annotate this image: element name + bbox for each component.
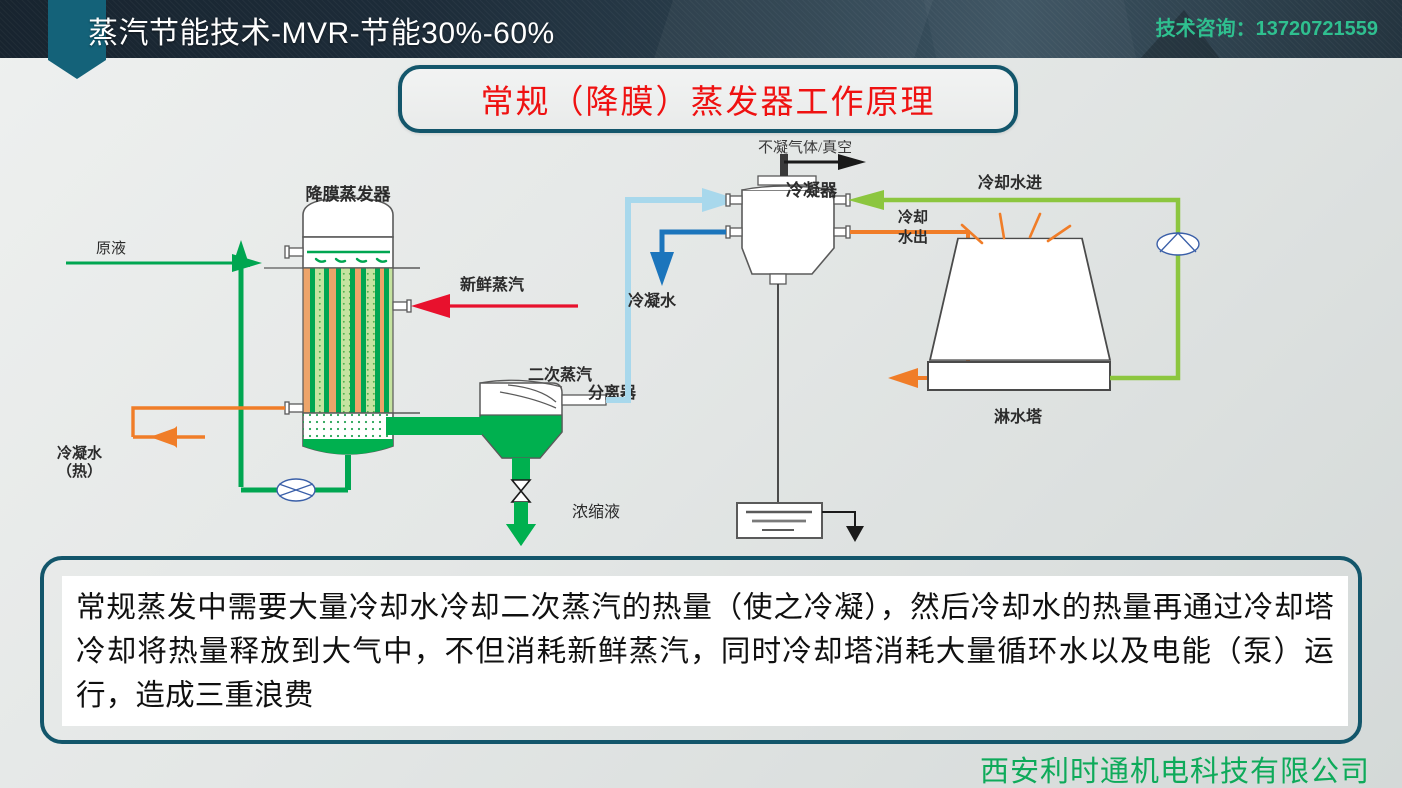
condenser-label: 冷凝器 <box>786 180 838 200</box>
concentrate-label: 浓缩液 <box>572 503 620 521</box>
noncondensable-gas-flow <box>784 154 866 170</box>
fresh-steam-flow <box>411 294 578 318</box>
recirculation-pump-icon <box>277 479 315 501</box>
header-title: 蒸汽节能技术-MVR-节能30%-60% <box>88 8 555 52</box>
cooling-water-in-label: 冷却水进 <box>978 173 1042 192</box>
evaporator-liquid-level <box>303 439 393 455</box>
concentrate-transfer-pipe <box>386 417 482 435</box>
separator-bottom-outlet <box>506 458 536 546</box>
evaporator-label: 降膜蒸发器 <box>306 184 392 204</box>
condenser-vessel <box>726 154 850 503</box>
description-card: 常规蒸发中需要大量冷却水冷却二次蒸汽的热量（使之冷凝），然后冷却水的热量再通过冷… <box>40 556 1362 744</box>
cooling-tower-label: 淋水塔 <box>994 407 1043 426</box>
cooling-tower <box>928 238 1110 390</box>
fresh-steam-label: 新鲜蒸汽 <box>460 275 524 294</box>
process-flow-diagram: 降膜蒸发器 原液 冷凝水 （热） <box>0 140 1402 550</box>
hot-condensate-label-line1: 冷凝水 <box>57 444 103 462</box>
condenser-condensate-label: 冷凝水 <box>628 291 677 310</box>
slide-title-text: 常规（降膜）蒸发器工作原理 <box>481 75 936 123</box>
condenser-condensate-flow <box>650 232 726 286</box>
cooling-water-out-label-line1: 冷却 <box>898 208 928 226</box>
hot-condensate-flow <box>133 408 285 448</box>
cooling-water-out-label-line2: 水出 <box>898 228 928 246</box>
hot-condensate-label-line2: （热） <box>57 462 102 480</box>
company-name: 西安利时通机电科技有限公司 <box>980 748 1370 788</box>
secondary-steam-label: 二次蒸汽 <box>528 365 592 384</box>
header-decoration-polygon-1 <box>641 0 940 58</box>
feed-liquid-label: 原液 <box>96 240 126 257</box>
header-contact-info: 技术咨询：13720721559 <box>1156 12 1378 41</box>
description-text: 常规蒸发中需要大量冷却水冷却二次蒸汽的热量（使之冷凝），然后冷却水的热量再通过冷… <box>76 586 1334 718</box>
collection-tank <box>737 503 864 542</box>
slide-canvas: 蒸汽节能技术-MVR-节能30%-60% 技术咨询：13720721559 常规… <box>0 0 1402 788</box>
noncondensable-gas-label: 不凝气体/真空 <box>758 140 852 156</box>
header-decoration-polygon-3 <box>924 0 1136 58</box>
slide-title-card: 常规（降膜）蒸发器工作原理 <box>398 65 1018 133</box>
evaporator-tube-bundle <box>303 268 393 413</box>
cooling-water-pump-icon <box>1157 233 1199 255</box>
description-inner-box: 常规蒸发中需要大量冷却水冷却二次蒸汽的热量（使之冷凝），然后冷却水的热量再通过冷… <box>62 576 1348 726</box>
